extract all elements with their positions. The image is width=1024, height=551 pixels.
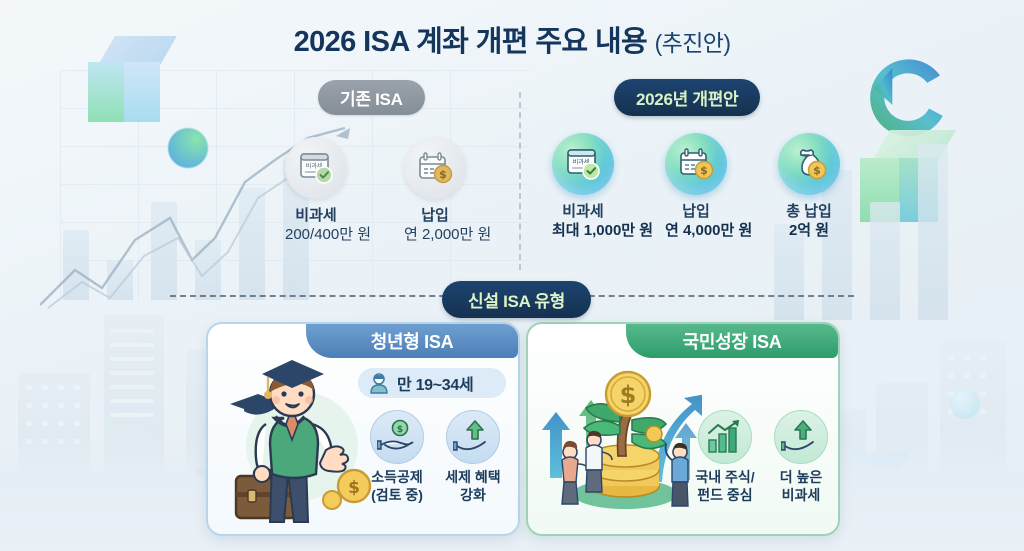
column-divider [519,92,521,270]
age-range-label: 만 19~34세 [397,371,473,395]
national-benefit-domestic-stocks: 국내 주식/ 펀드 중심 [688,410,762,504]
youth-benefit-label: 소득공제 (검토 중) [360,469,434,504]
svg-text:$: $ [620,381,637,409]
national-benefit-label: 국내 주식/ 펀드 중심 [688,469,762,504]
reform-item-tax-free: 비과세 비과세 최대 1,000만 원 [552,133,614,240]
background-sphere-right [950,389,980,419]
graduate-student-icon: $ [214,350,374,530]
youth-benefit-tax-boost: 세제 혜택 강화 [436,410,510,504]
reform-item-label: 총 납입 2억 원 [778,202,840,240]
badge-existing-isa: 기존 ISA [318,80,425,115]
person-icon [368,372,390,394]
reform-item-label: 납입 연 4,000만 원 [665,202,727,240]
existing-item-label: 납입 연 2,000만 원 [404,206,466,244]
hand-coin-icon: $ [370,410,424,464]
page-title: 2026 ISA 계좌 개편 주요 내용 (추진안) [0,18,1024,60]
background-sphere-top [168,128,208,168]
badge-new-isa-types: 신설 ISA 유형 [442,281,591,318]
money-tree-icon: $ [532,360,702,525]
calendar-coin-icon: $ [404,137,466,199]
reform-item-contribution: $ 납입 연 4,000만 원 [665,133,727,240]
svg-text:$: $ [397,425,403,435]
title-sub: (추진안) [655,30,731,56]
svg-text:$: $ [813,164,821,177]
svg-text:$: $ [348,478,360,498]
calendar-coin-icon: $ [665,133,727,195]
document-check-icon: 비과세 [552,133,614,195]
bar-chart-growth-icon [698,410,752,464]
card-national-growth-isa: 국민성장 ISA [526,322,840,536]
svg-text:$: $ [439,168,447,181]
money-bag-icon: $ [778,133,840,195]
youth-benefit-label: 세제 혜택 강화 [436,469,510,504]
card-youth-isa: 청년형 ISA [206,322,520,536]
national-benefit-label: 더 높은 비과세 [764,469,838,504]
age-range-pill: 만 19~34세 [358,368,506,398]
hand-arrow-up-icon [446,410,500,464]
youth-benefit-income-deduction: $ 소득공제 (검토 중) [360,410,434,504]
national-benefit-higher-tax-free: 더 높은 비과세 [764,410,838,504]
card-national-header: 국민성장 ISA [626,324,838,358]
existing-item-label: 비과세 200/400만 원 [285,206,347,244]
infographic-canvas: ✦ ✦ 2026 ISA 계좌 개편 주요 내용 (추진안) 기존 ISA 20… [0,0,1024,551]
existing-item-tax-free: 비과세 비과세 200/400만 원 [285,137,347,244]
document-check-icon: 비과세 [285,137,347,199]
title-main: 2026 ISA 계좌 개편 주요 내용 [294,26,648,58]
badge-2026-reform: 2026년 개편안 [614,79,760,116]
reform-item-label: 비과세 최대 1,000만 원 [552,202,614,240]
svg-text:$: $ [700,164,708,177]
hand-arrow-up-icon [774,410,828,464]
existing-item-contribution: $ 납입 연 2,000만 원 [404,137,466,244]
reform-item-total-contribution: $ 총 납입 2억 원 [778,133,840,240]
